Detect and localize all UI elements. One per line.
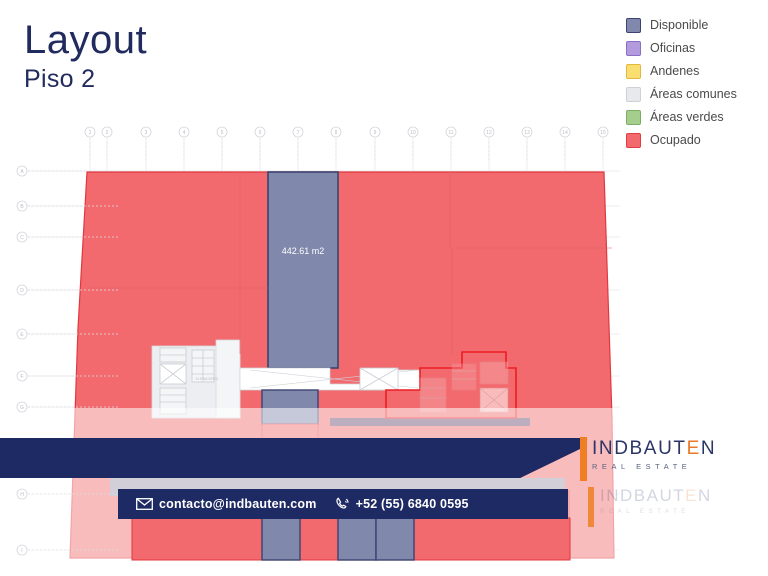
common-core-block-2 — [216, 340, 240, 418]
row-grid-label: G — [20, 405, 24, 411]
column-grid-label: 5 — [221, 130, 224, 136]
column-grid-label: 7 — [297, 130, 300, 136]
page-title: Layout — [24, 18, 147, 62]
logo-text-accent: E — [687, 438, 701, 459]
legend-label: Oficinas — [650, 41, 695, 56]
phone-icon — [335, 497, 350, 511]
watermark-part3: N — [698, 486, 712, 505]
slide-root: Layout Piso 2 DisponibleOficinasAndenesÁ… — [0, 0, 768, 576]
column-grid-label: 6 — [259, 130, 262, 136]
contact-phone-text: +52 (55) 6840 0595 — [356, 497, 469, 511]
column-grid-label: 13 — [524, 130, 530, 136]
contact-phone[interactable]: +52 (55) 6840 0595 — [335, 497, 469, 511]
brand-logo-text: INDBAUTEN — [592, 438, 760, 460]
legend-swatch — [626, 41, 641, 56]
envelope-icon — [136, 498, 153, 510]
navy-banner-shape — [0, 438, 586, 478]
contact-email-text: contacto@indbauten.com — [159, 497, 317, 511]
legend-label: Andenes — [650, 64, 699, 79]
contact-bar: contacto@indbauten.com +52 (55) 6840 059… — [118, 489, 568, 519]
brand-tagline: REAL ESTATE — [592, 462, 760, 471]
logo-text-part2: NDBAUT — [599, 438, 687, 459]
page-subtitle: Piso 2 — [24, 64, 147, 94]
row-grid-label: D — [20, 288, 24, 294]
column-grid-label: 3 — [145, 130, 148, 136]
row-grid-label: F — [20, 374, 23, 380]
legend-item[interactable]: Disponible — [626, 14, 766, 36]
legend-item[interactable]: Andenes — [626, 60, 766, 82]
available-area-label: 442.61 m2 — [282, 246, 325, 256]
column-grid-label: 2 — [106, 130, 109, 136]
column-grid-label: 8 — [335, 130, 338, 136]
secondary-stair — [360, 368, 398, 390]
column-grid-label: 1 — [89, 130, 92, 136]
watermark-orange-bar — [588, 487, 594, 527]
logo-text-part1: I — [592, 438, 599, 459]
legend-label: Disponible — [650, 18, 708, 33]
column-grid-label: 14 — [562, 130, 568, 136]
column-grid-label: 15 — [600, 130, 606, 136]
elevator-label: ELEVADORES — [196, 377, 219, 381]
legend-swatch — [626, 18, 641, 33]
column-grid-label: 10 — [410, 130, 416, 136]
watermark-part2: NDBAUT — [606, 486, 685, 505]
legend-label: Áreas comunes — [650, 87, 737, 102]
legend-swatch — [626, 64, 641, 79]
logo-text-part3: N — [701, 438, 716, 459]
column-grid-label: 12 — [486, 130, 492, 136]
contact-email[interactable]: contacto@indbauten.com — [136, 497, 317, 511]
orange-accent-bar — [580, 437, 587, 481]
watermark-logo-text: INDBAUTEN — [600, 486, 712, 506]
legend-item[interactable]: Oficinas — [626, 37, 766, 59]
legend-swatch — [626, 87, 641, 102]
watermark-accent: E — [685, 486, 698, 505]
brand-logo: INDBAUTEN REAL ESTATE — [592, 438, 760, 476]
row-grid-label: C — [20, 235, 24, 241]
page-title-block: Layout Piso 2 — [24, 18, 147, 94]
watermark-tagline: REAL ESTATE — [600, 508, 712, 515]
column-grid-label: 11 — [448, 130, 453, 136]
column-grid-label: 4 — [183, 130, 186, 136]
available-area-block — [268, 172, 338, 368]
column-grid-markers: 123456789101112131415 — [85, 127, 608, 162]
brand-watermark: INDBAUTEN REAL ESTATE — [600, 486, 712, 515]
legend-item[interactable]: Áreas comunes — [626, 83, 766, 105]
column-grid-label: 9 — [374, 130, 377, 136]
